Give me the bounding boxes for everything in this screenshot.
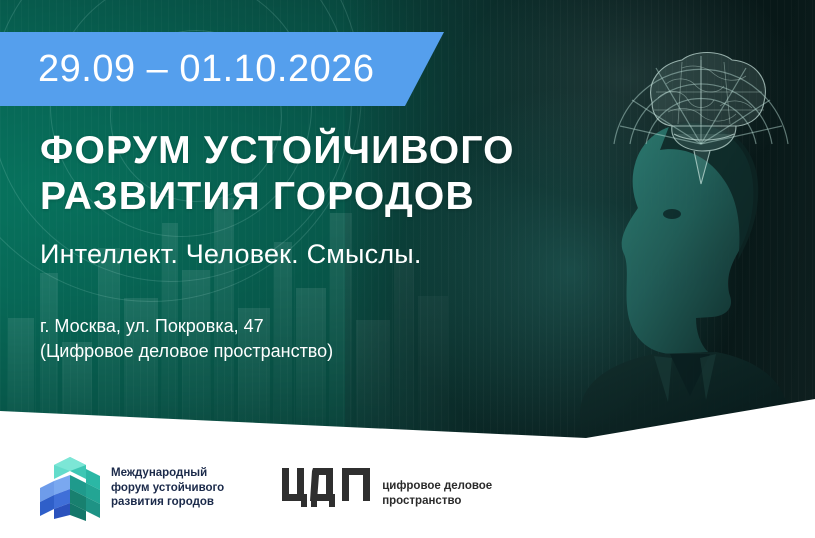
cdp-wordmark-logo-icon	[282, 466, 370, 510]
date-badge: 29.09 – 01.10.2026	[0, 32, 444, 106]
page-title: ФОРУМ УСТОЙЧИВОГО РАЗВИТИЯ ГОРОДОВ	[40, 128, 640, 220]
forum-logo-text: Международный форум устойчивого развития…	[111, 466, 224, 510]
hero-banner: 29.09 – 01.10.2026 ФОРУМ УСТОЙЧИВОГО РАЗ…	[0, 0, 815, 438]
footer-logo-bar: Международный форум устойчивого развития…	[0, 438, 815, 538]
cdp-logo[interactable]: цифровое деловое пространство	[282, 466, 492, 510]
headline-block: ФОРУМ УСТОЙЧИВОГО РАЗВИТИЯ ГОРОДОВ Интел…	[40, 128, 640, 364]
subtitle: Интеллект. Человек. Смыслы.	[40, 238, 640, 270]
event-poster: 29.09 – 01.10.2026 ФОРУМ УСТОЙЧИВОГО РАЗ…	[0, 0, 815, 538]
venue-address: г. Москва, ул. Покровка, 47 (Цифровое де…	[40, 314, 640, 364]
date-badge-text: 29.09 – 01.10.2026	[0, 48, 375, 91]
forum-logo[interactable]: Международный форум устойчивого развития…	[40, 455, 224, 521]
isometric-cube-stack-logo-icon	[40, 455, 100, 521]
cdp-logo-text: цифровое деловое пространство	[382, 479, 492, 508]
